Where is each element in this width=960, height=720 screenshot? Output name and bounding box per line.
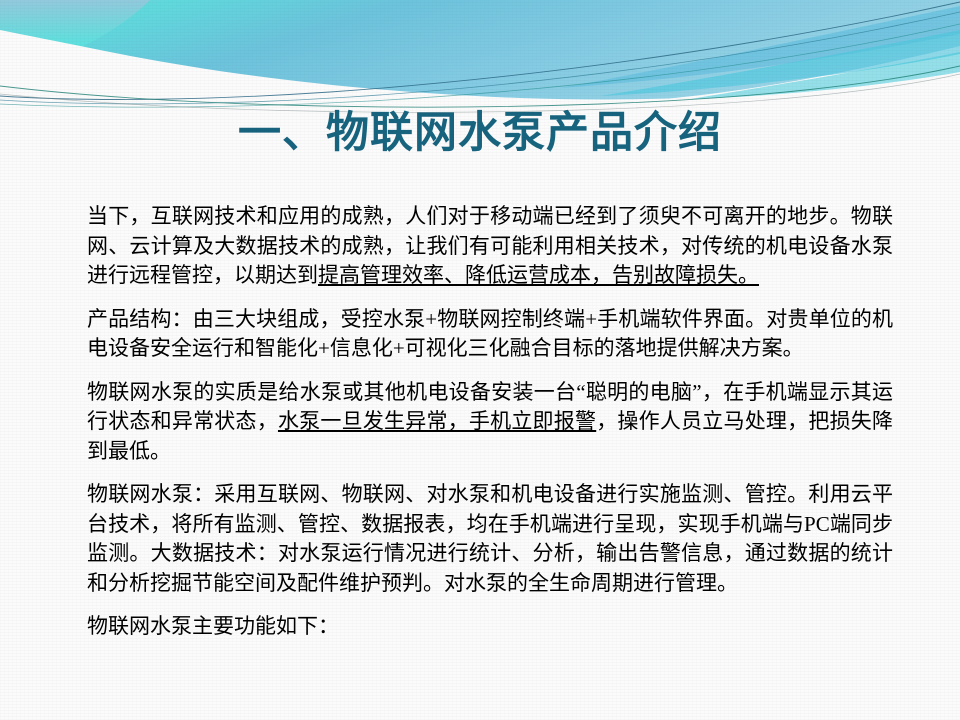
slide-title-text: 一、物联网水泵产品介绍 <box>238 108 722 158</box>
body-paragraph-p3-essence: 物联网水泵的实质是给水泵或其他机电设备安装一台“聪明的电脑”，在手机端显示其运行… <box>87 378 893 467</box>
body-paragraph-p5-functions-lead: 物联网水泵主要功能如下： <box>87 612 893 642</box>
body-paragraph-p4-technology: 物联网水泵：采用互联网、物联网、对水泵和机电设备进行实施监测、管控。利用云平台技… <box>87 480 893 598</box>
slide-title: 一、物联网水泵产品介绍 <box>0 108 960 158</box>
emphasis-underlined-text: 水泵一旦发生异常，手机立即报警 <box>278 409 596 433</box>
body-text-run: 物联网水泵：采用互联网、物联网、对水泵和机电设备进行实施监测、管控。利用云平台技… <box>87 482 893 595</box>
presentation-slide: 一、物联网水泵产品介绍 当下，互联网技术和应用的成熟，人们对于移动端已经到了须臾… <box>0 0 960 720</box>
emphasis-underlined-text: 提高管理效率、降低运营成本，告别故障损失。 <box>318 263 759 287</box>
slide-body-content: 当下，互联网技术和应用的成熟，人们对于移动端已经到了须臾不可离开的地步。物联网、… <box>87 202 893 642</box>
body-paragraph-p1-market-background: 当下，互联网技术和应用的成熟，人们对于移动端已经到了须臾不可离开的地步。物联网、… <box>87 202 893 291</box>
header-wave-decoration <box>0 0 960 120</box>
body-text-run: 产品结构：由三大块组成，受控水泵+物联网控制终端+手机端软件界面。对贵单位的机电… <box>87 307 893 361</box>
body-text-run: 物联网水泵主要功能如下： <box>87 614 339 638</box>
body-paragraph-p2-product-structure: 产品结构：由三大块组成，受控水泵+物联网控制终端+手机端软件界面。对贵单位的机电… <box>87 305 893 364</box>
